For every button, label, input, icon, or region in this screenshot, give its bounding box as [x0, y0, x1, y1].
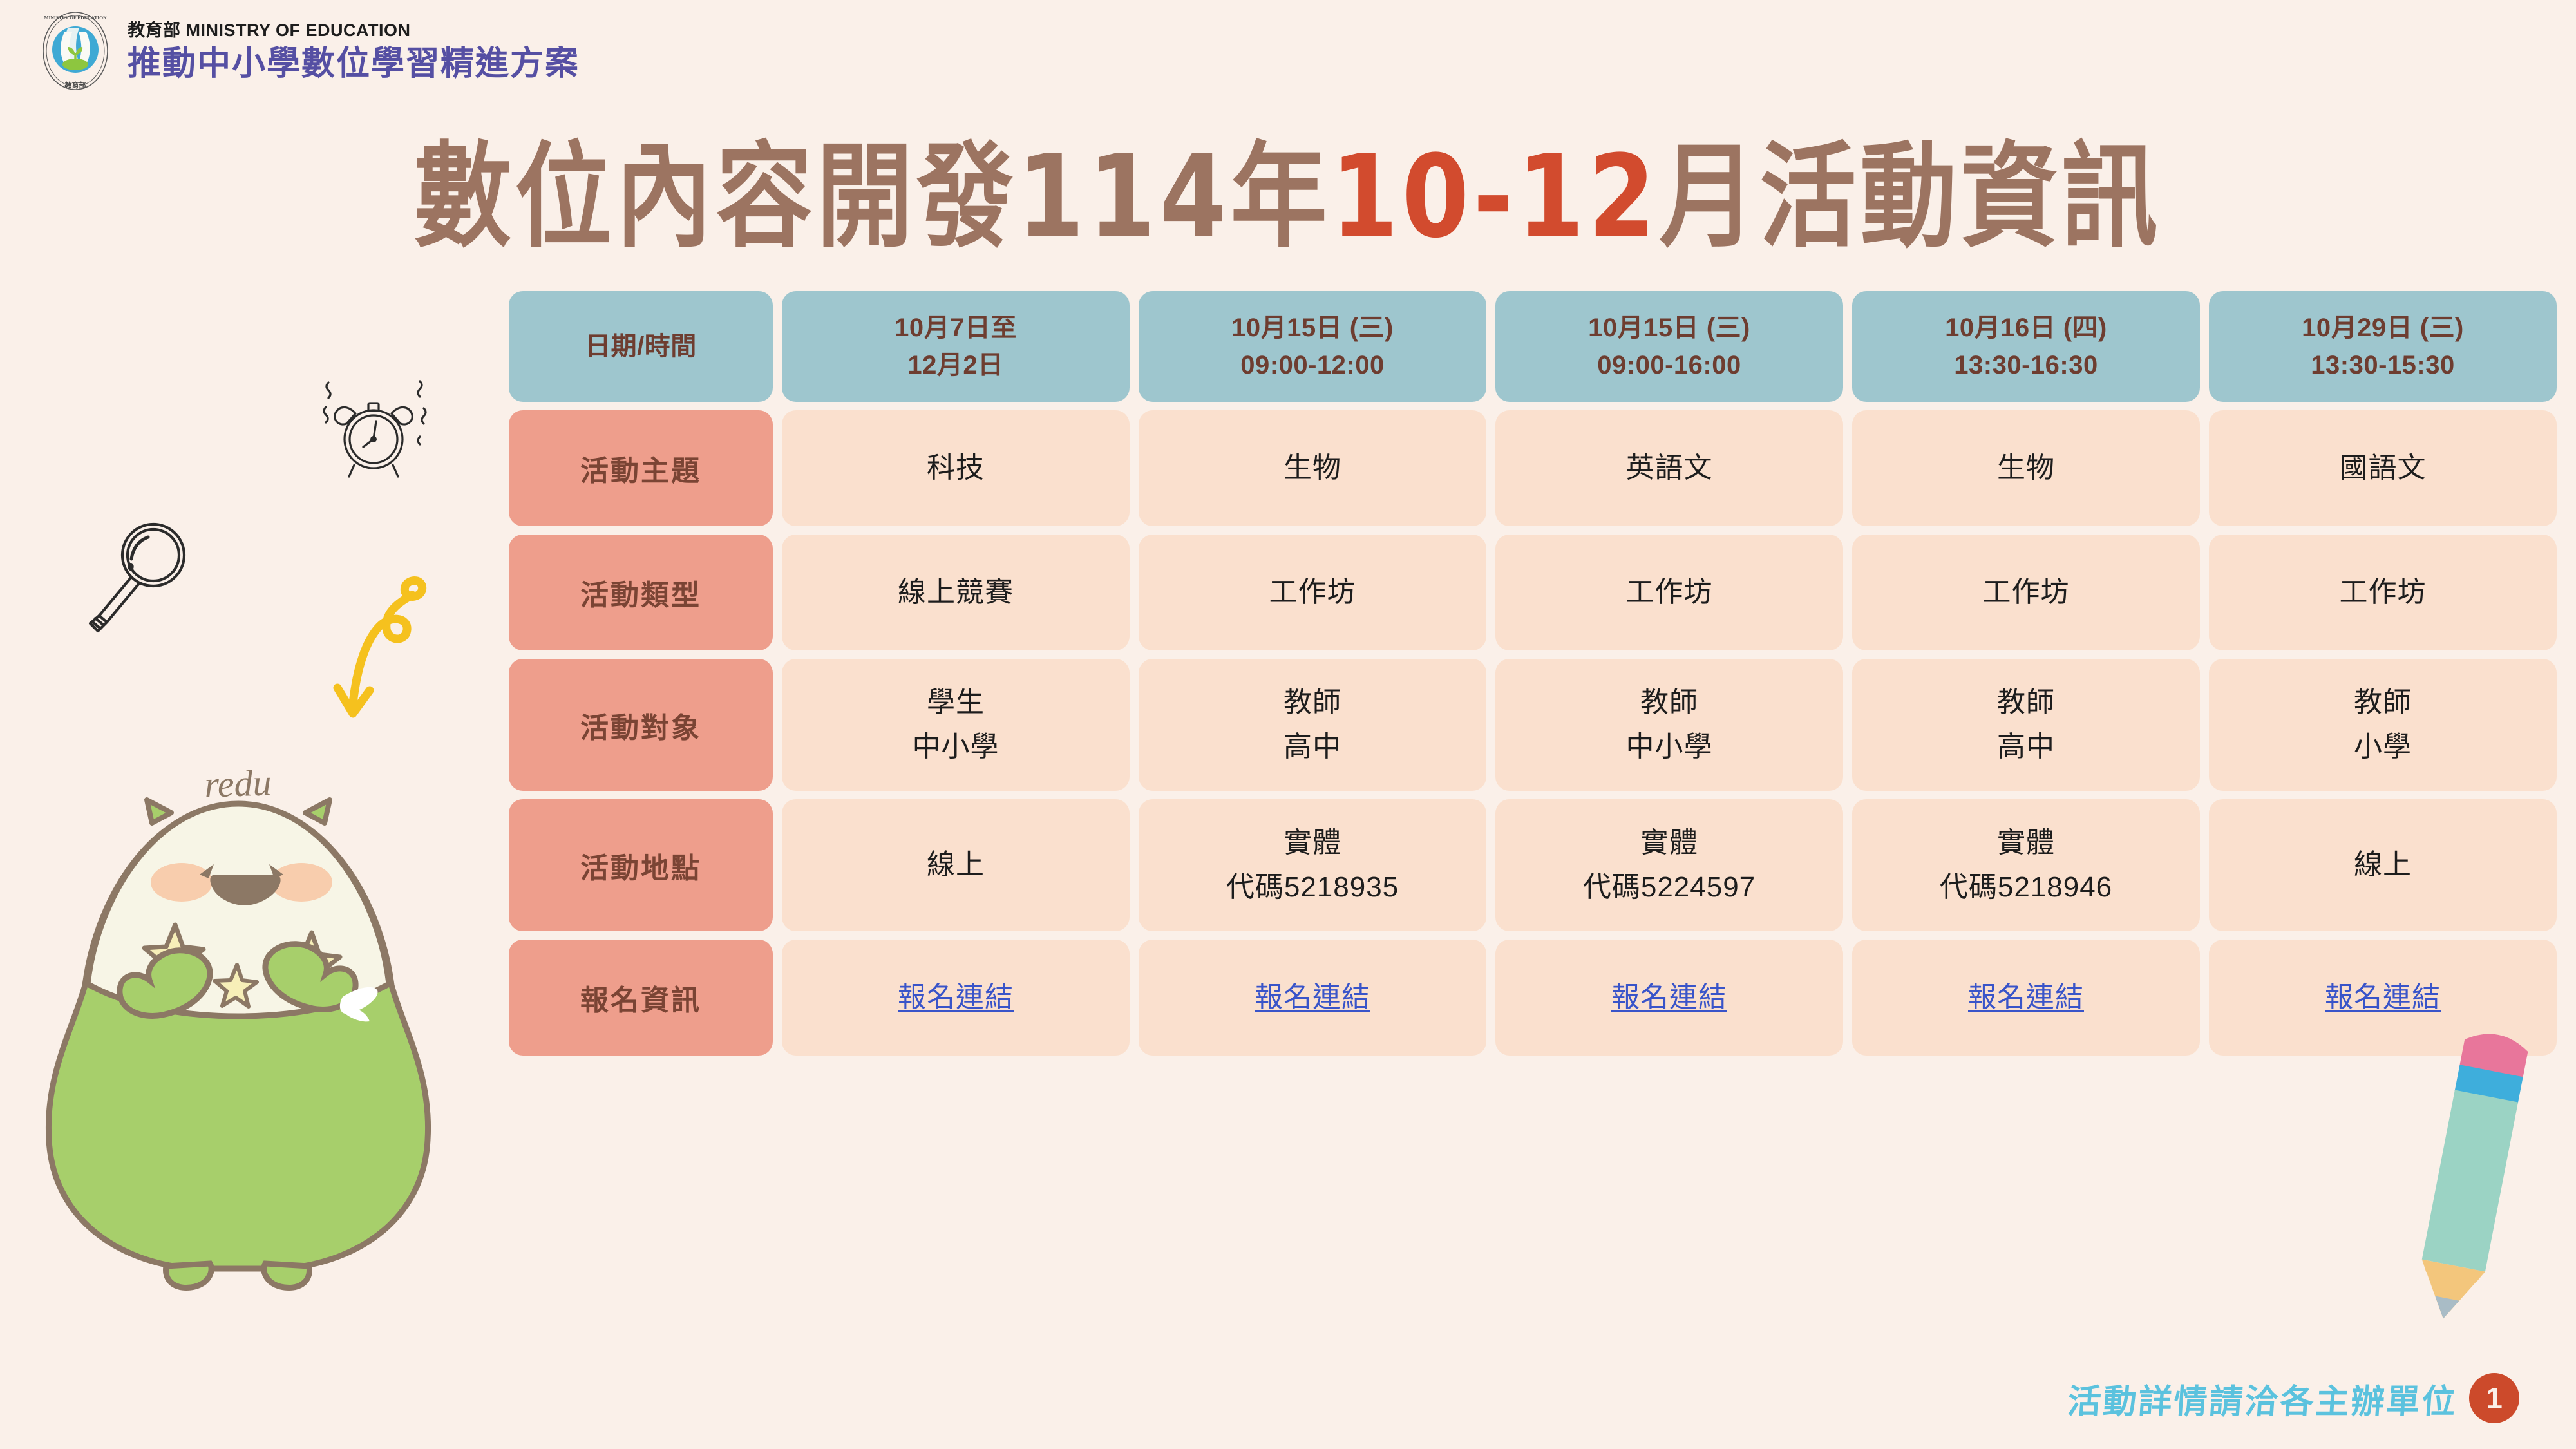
cell-line1: 工作坊 — [2340, 571, 2427, 614]
table-cell-registration-1: 報名連結 — [782, 940, 1130, 1056]
footer-note: 活動詳情請洽各主辦單位 — [2066, 1374, 2459, 1423]
cell-line1: 教師 — [1640, 681, 1698, 724]
column-date-5: 10月29日 (三) — [2302, 309, 2464, 346]
row-label-place: 活動地點 — [509, 799, 773, 931]
column-time-2: 09:00-12:00 — [1240, 346, 1384, 384]
column-date-3: 10月15日 (三) — [1588, 309, 1750, 346]
cell-line1: 線上競賽 — [898, 571, 1014, 614]
svg-text:教育部: 教育部 — [64, 80, 86, 90]
cell-line2: 高中 — [1283, 725, 1341, 769]
table-cell-topic-4: 生物 — [1852, 410, 2200, 526]
cell-line1: 學生 — [927, 681, 985, 724]
column-header-1: 10月7日至 12月2日 — [782, 291, 1130, 402]
footer: 活動詳情請洽各主辦單位 1 — [2068, 1373, 2519, 1423]
column-header-2: 10月15日 (三) 09:00-12:00 — [1139, 291, 1486, 402]
ministry-name-en: 教育部 MINISTRY OF EDUCATION — [128, 22, 580, 39]
cell-line2: 中小學 — [1626, 725, 1713, 769]
column-time-4: 13:30-16:30 — [1954, 346, 2098, 384]
table-cell-type-1: 線上競賽 — [782, 535, 1130, 650]
cell-line2: 代碼5218935 — [1226, 866, 1399, 909]
table-cell-target-1: 學生中小學 — [782, 659, 1130, 791]
row-label-registration: 報名資訊 — [509, 940, 773, 1056]
cell-line2: 代碼5224597 — [1583, 866, 1756, 909]
table-cell-place-2: 實體代碼5218935 — [1139, 799, 1486, 931]
table-cell-topic-2: 生物 — [1139, 410, 1486, 526]
curly-arrow-icon — [309, 567, 438, 728]
mascot-label: redu — [204, 761, 272, 806]
cell-line1: 生物 — [1997, 446, 2055, 490]
ministry-header: MINISTRY OF EDUCATION 教育部 教育部 MINISTRY O… — [37, 9, 580, 93]
cell-line1: 科技 — [927, 446, 985, 490]
cell-line1: 線上 — [927, 843, 985, 887]
registration-link-1[interactable]: 報名連結 — [898, 976, 1014, 1019]
cell-line1: 英語文 — [1626, 446, 1713, 490]
title-prefix: 數位內容開發114年 — [415, 131, 1331, 263]
table-cell-type-4: 工作坊 — [1852, 535, 2200, 650]
cell-line1: 教師 — [1997, 681, 2055, 724]
registration-link-3[interactable]: 報名連結 — [1611, 976, 1727, 1019]
table-cell-place-1: 線上 — [782, 799, 1130, 931]
cell-line2: 中小學 — [913, 725, 999, 769]
cell-line1: 線上 — [2354, 843, 2412, 887]
cell-line1: 生物 — [1283, 446, 1341, 490]
cell-line1: 實體 — [1283, 821, 1341, 865]
table-cell-registration-2: 報名連結 — [1139, 940, 1486, 1056]
registration-link-4[interactable]: 報名連結 — [1968, 976, 2084, 1019]
magnifier-icon — [84, 509, 213, 638]
cell-line1: 工作坊 — [1269, 571, 1356, 614]
page-title: 數位內容開發114年10-12月活動資訊 — [0, 140, 2576, 254]
column-date-1: 10月7日至 — [895, 309, 1017, 346]
activity-schedule-table: 日期/時間 10月7日至 12月2日 10月15日 (三) 09:00-12:0… — [509, 291, 2557, 1056]
row-label-target: 活動對象 — [509, 659, 773, 791]
table-cell-topic-1: 科技 — [782, 410, 1130, 526]
cell-line1: 實體 — [1640, 821, 1698, 865]
column-header-4: 10月16日 (四) 13:30-16:30 — [1852, 291, 2200, 402]
column-date-2: 10月15日 (三) — [1231, 309, 1394, 346]
column-header-3: 10月15日 (三) 09:00-16:00 — [1495, 291, 1843, 402]
column-date-4: 10月16日 (四) — [1945, 309, 2107, 346]
cell-line1: 教師 — [1283, 681, 1341, 724]
table-cell-target-3: 教師中小學 — [1495, 659, 1843, 791]
registration-link-2[interactable]: 報名連結 — [1255, 976, 1370, 1019]
table-cell-place-4: 實體代碼5218946 — [1852, 799, 2200, 931]
column-header-5: 10月29日 (三) 13:30-15:30 — [2209, 291, 2557, 402]
alarm-clock-icon — [309, 367, 438, 496]
table-cell-target-5: 教師小學 — [2209, 659, 2557, 791]
table-cell-type-3: 工作坊 — [1495, 535, 1843, 650]
table-cell-topic-3: 英語文 — [1495, 410, 1843, 526]
table-cell-type-5: 工作坊 — [2209, 535, 2557, 650]
table-cell-target-4: 教師高中 — [1852, 659, 2200, 791]
cell-line1: 實體 — [1997, 821, 2055, 865]
cell-line2: 小學 — [2354, 725, 2412, 769]
column-time-5: 13:30-15:30 — [2311, 346, 2454, 384]
title-suffix: 月活動資訊 — [1659, 131, 2161, 263]
column-time-1: 12月2日 — [907, 346, 1003, 384]
table-cell-registration-4: 報名連結 — [1852, 940, 2200, 1056]
page-number-badge: 1 — [2469, 1373, 2519, 1423]
table-corner-header: 日期/時間 — [509, 291, 773, 402]
column-time-3: 09:00-16:00 — [1597, 346, 1741, 384]
cell-line2: 代碼5218946 — [1940, 866, 2112, 909]
title-highlight: 10-12 — [1331, 131, 1660, 263]
svg-text:MINISTRY OF EDUCATION: MINISTRY OF EDUCATION — [44, 15, 108, 21]
program-name: 推動中小學數位學習精進方案 — [128, 47, 580, 80]
table-cell-registration-5: 報名連結 — [2209, 940, 2557, 1056]
cell-line2: 高中 — [1997, 725, 2055, 769]
row-label-topic: 活動主題 — [509, 410, 773, 526]
table-cell-registration-3: 報名連結 — [1495, 940, 1843, 1056]
table-cell-place-3: 實體代碼5224597 — [1495, 799, 1843, 931]
table-cell-place-5: 線上 — [2209, 799, 2557, 931]
moe-seal-icon: MINISTRY OF EDUCATION 教育部 — [37, 9, 113, 93]
cell-line1: 工作坊 — [1626, 571, 1713, 614]
table-cell-type-2: 工作坊 — [1139, 535, 1486, 650]
cell-line1: 教師 — [2354, 681, 2412, 724]
table-cell-target-2: 教師高中 — [1139, 659, 1486, 791]
green-mascot-icon: redu — [26, 728, 451, 1294]
table-cell-topic-5: 國語文 — [2209, 410, 2557, 526]
cell-line1: 國語文 — [2340, 446, 2427, 490]
registration-link-5[interactable]: 報名連結 — [2325, 976, 2441, 1019]
cell-line1: 工作坊 — [1983, 571, 2070, 614]
row-label-type: 活動類型 — [509, 535, 773, 650]
